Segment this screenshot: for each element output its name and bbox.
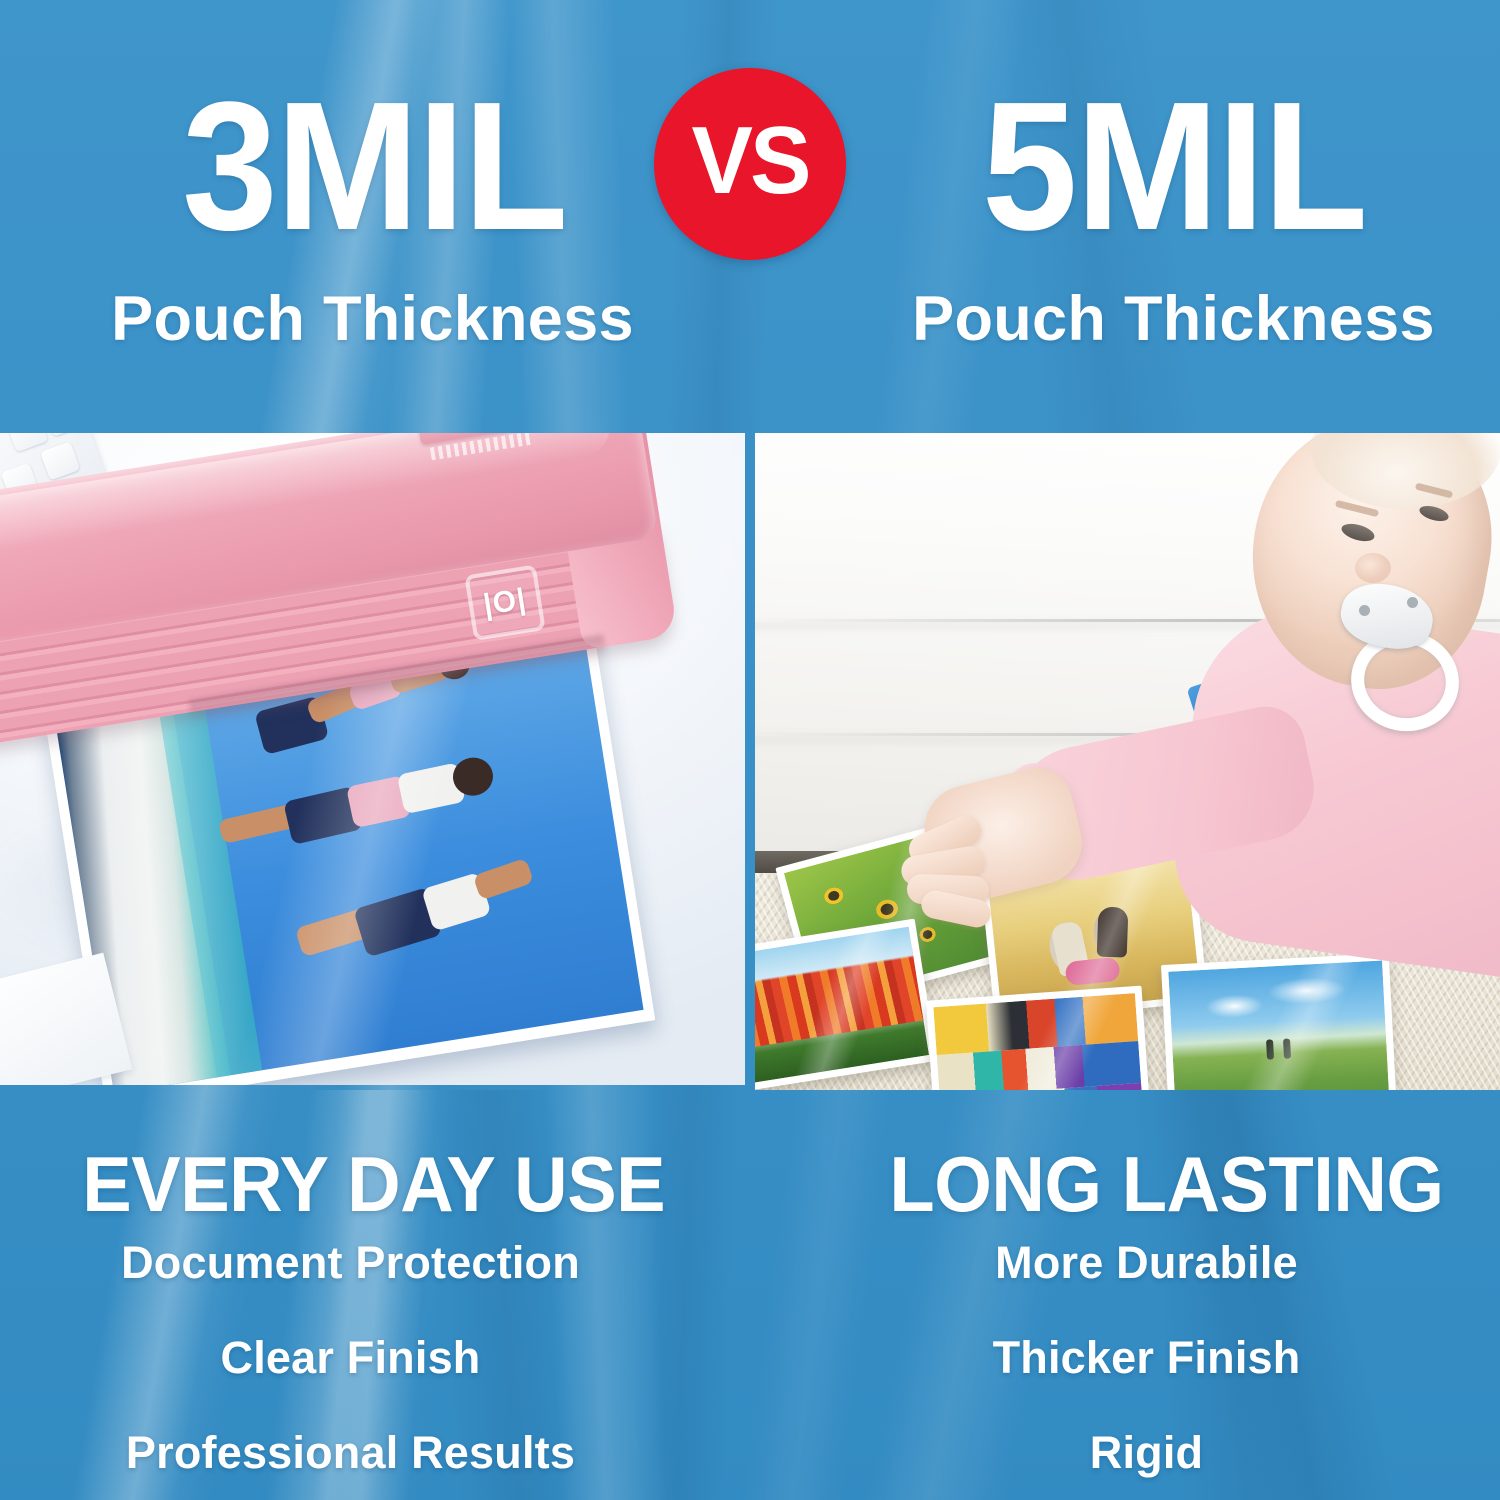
photo-panel-left: |O| [0, 433, 745, 1085]
pacifier-hole [1359, 605, 1370, 616]
benefits-section: EVERY DAY USE Document Protection Clear … [0, 1090, 1500, 1500]
benefits-column-right: LONG LASTING More Durabile Thicker Finis… [755, 1090, 1500, 1500]
power-icon: |O| [481, 585, 528, 621]
infographic-canvas: 3MIL Pouch Thickness VS 5MIL Pouch Thick… [0, 0, 1500, 1500]
benefits-list-right: More Durabile Thicker Finish Rigid [755, 1240, 1500, 1500]
keyboard-key [45, 433, 78, 437]
card-gloss [1161, 953, 1397, 1090]
photo-panel-right [755, 433, 1500, 1090]
pacifier-hole [1407, 597, 1418, 608]
left-thickness-subtitle: Pouch Thickness [0, 285, 801, 354]
photo-panels: |O| [0, 433, 1500, 1090]
benefits-list-left: Document Protection Clear Finish Profess… [0, 1240, 745, 1500]
vs-badge: VS [654, 68, 846, 260]
benefit-item: Document Protection [0, 1240, 745, 1285]
power-button[interactable]: |O| [464, 564, 545, 640]
vs-badge-label: VS [691, 113, 808, 209]
comparison-header: 3MIL Pouch Thickness VS 5MIL Pouch Thick… [0, 0, 1500, 433]
benefits-column-left: EVERY DAY USE Document Protection Clear … [0, 1090, 745, 1500]
laminated-card-abstract [926, 986, 1152, 1090]
benefit-item: Professional Results [0, 1430, 745, 1475]
baby-nose [1355, 553, 1391, 583]
benefit-item: Thicker Finish [755, 1335, 1500, 1380]
keyboard-key [6, 433, 48, 452]
card-gloss [926, 986, 1152, 1090]
benefits-heading-right: LONG LASTING [775, 1145, 1500, 1223]
keyboard-key [40, 441, 80, 480]
right-thickness-subtitle: Pouch Thickness [755, 285, 1500, 354]
header-column-right: 5MIL Pouch Thickness [755, 0, 1500, 433]
benefit-item: Clear Finish [0, 1335, 745, 1380]
benefits-heading-left: EVERY DAY USE [20, 1145, 773, 1223]
laminated-card-landscape [1161, 953, 1397, 1090]
card-gloss [755, 919, 937, 1090]
benefit-item: Rigid [755, 1430, 1500, 1475]
benefit-item: More Durabile [755, 1240, 1500, 1285]
header-column-left: 3MIL Pouch Thickness [0, 0, 745, 433]
laminated-card-tulip [755, 919, 937, 1090]
right-thickness-title: 5MIL [779, 74, 1500, 257]
